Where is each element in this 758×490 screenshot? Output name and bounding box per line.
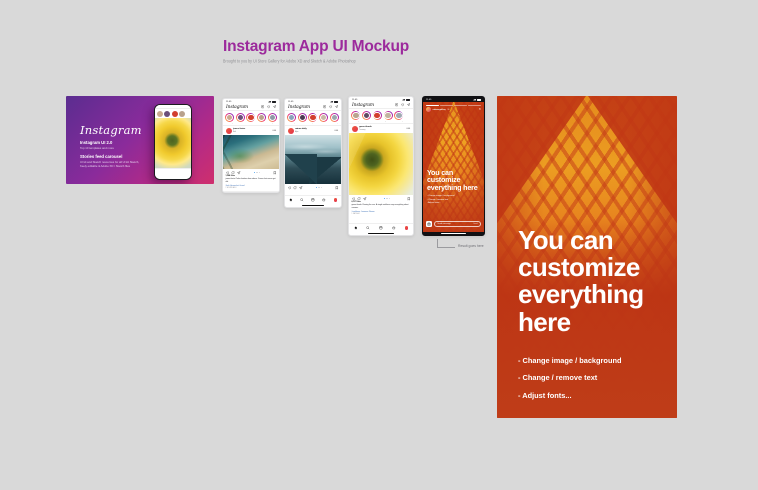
post-photo xyxy=(349,133,413,195)
post-header: james.foster Bali ••• xyxy=(223,126,279,135)
bottom-tab-bar[interactable] xyxy=(223,191,279,193)
share-icon[interactable] xyxy=(299,186,303,190)
plus-icon[interactable] xyxy=(323,105,326,108)
signal-icon xyxy=(473,99,476,101)
plus-icon[interactable] xyxy=(395,103,398,106)
status-time: 11:45 xyxy=(352,99,357,101)
more-options-icon[interactable]: ••• xyxy=(406,128,410,129)
reels-icon[interactable] xyxy=(311,198,315,202)
post-timestamp: 1 DAY AGO xyxy=(352,214,411,215)
home-indicator xyxy=(349,232,413,235)
bottom-tab-bar[interactable] xyxy=(285,195,341,204)
heart-icon[interactable] xyxy=(401,103,404,106)
story-reply-bar[interactable]: Send message Send xyxy=(426,221,481,227)
stories-strip[interactable]: Your story ellie.rose bloom.co gardens s… xyxy=(349,109,413,124)
story-item[interactable]: artbyleo xyxy=(268,113,277,124)
cover-line-1: Instagram UI 2.0 xyxy=(80,140,112,145)
status-time: 11:45 xyxy=(226,101,231,103)
battery-icon xyxy=(334,101,338,103)
post-location: Tuscany xyxy=(359,129,405,131)
post-header: nature.daily Alps ••• xyxy=(285,126,341,135)
story-avatar xyxy=(179,111,185,117)
instagram-wordmark: Instagram xyxy=(352,103,374,108)
story-progress-bar xyxy=(426,105,481,106)
story-item[interactable]: hikeclub xyxy=(319,113,328,124)
panel-content: You can customize everything here - Chan… xyxy=(518,227,663,404)
story-headline: You can customize everything here xyxy=(427,169,480,191)
post-actions xyxy=(285,184,341,190)
story-item[interactable]: bloom.co xyxy=(373,111,382,122)
shop-icon[interactable] xyxy=(322,198,326,202)
panel-bullet: - Change / remove text xyxy=(518,369,663,386)
post-header: green.thumb Tuscany ••• xyxy=(349,124,413,133)
post-photo xyxy=(285,135,341,184)
heart-icon[interactable] xyxy=(267,105,270,108)
stories-strip[interactable]: Your story nora.k explore hikeclub natur… xyxy=(285,111,341,126)
stories-strip[interactable]: Your story mia.lens travel.co foodieee a… xyxy=(223,111,279,126)
callout-label: Result goes here xyxy=(458,244,484,248)
battery-icon xyxy=(477,99,481,101)
heart-icon[interactable] xyxy=(288,186,292,190)
cover-line-3: Stories feed carousel xyxy=(80,154,122,159)
story-item[interactable]: foodieee xyxy=(257,113,266,124)
story-item[interactable]: Your story xyxy=(351,111,360,122)
panel-headline: You can customize everything here xyxy=(518,227,663,336)
battery-icon xyxy=(406,99,410,101)
avatar[interactable] xyxy=(426,107,431,112)
phone-mockup-feed-1[interactable]: 11:45 Instagram Your story mia.lens trav… xyxy=(222,98,280,193)
search-icon[interactable] xyxy=(300,198,304,202)
plus-icon[interactable] xyxy=(261,105,264,108)
story-reply-placeholder: Send message xyxy=(437,223,450,225)
panel-bullet-list: - Change image / background - Change / r… xyxy=(518,352,663,404)
story-bullet: - Adjust fonts... xyxy=(427,202,480,206)
share-icon[interactable] xyxy=(363,197,367,201)
callout-leader-line xyxy=(437,239,455,248)
avatar[interactable] xyxy=(352,126,358,132)
post-photo xyxy=(223,135,279,169)
home-indicator xyxy=(423,232,484,235)
signal-icon xyxy=(330,101,333,103)
panel-bullet: - Change image / background xyxy=(518,352,663,369)
story-item[interactable]: ellie.rose xyxy=(362,111,371,122)
story-avatar xyxy=(172,111,178,117)
story-item[interactable]: Your story xyxy=(287,113,296,124)
phone-mockup-story[interactable]: 11:45 uistoregallery 3h × You can custom… xyxy=(422,96,485,236)
cover-line-2: Top 10 templates and more xyxy=(80,146,114,150)
status-time: 11:45 xyxy=(288,101,293,103)
page-title: Instagram App UI Mockup xyxy=(223,38,409,55)
camera-icon[interactable] xyxy=(426,221,432,227)
instagram-wordmark: Instagram xyxy=(226,105,248,110)
big-preview-panel[interactable]: You can customize everything here - Chan… xyxy=(497,96,677,418)
bookmark-icon[interactable] xyxy=(407,197,411,201)
mockup-canvas: Instagram App UI Mockup Brought to you b… xyxy=(0,0,758,490)
comment-icon[interactable] xyxy=(293,186,297,190)
story-username[interactable]: uistoregallery xyxy=(433,109,446,111)
story-content: You can customize everything here - Chan… xyxy=(427,169,480,206)
phone-mockup-feed-2[interactable]: 11:45 Instagram Your story nora.k explor… xyxy=(284,98,342,208)
signal-icon xyxy=(268,101,271,103)
story-avatar xyxy=(157,111,163,117)
cover-logo: Instagram xyxy=(80,123,142,137)
instagram-nav-bar: Instagram xyxy=(223,104,279,111)
avatar[interactable] xyxy=(226,128,232,134)
story-background-photo xyxy=(423,102,484,232)
share-icon[interactable] xyxy=(237,171,241,175)
story-time: 3h xyxy=(447,109,449,111)
story-item[interactable]: nora.k xyxy=(298,113,307,124)
story-item[interactable]: Your story xyxy=(225,113,234,124)
post-caption: 6,117 likes green.thumb Chasing the sun.… xyxy=(349,201,413,217)
cover-line-4: UI kit and Sketch resources for all UI k… xyxy=(80,160,144,168)
page-heading: Instagram App UI Mockup Brought to you b… xyxy=(223,38,409,64)
cover-phone-footer xyxy=(155,168,190,179)
caption-hashtags[interactable]: #sunflower #summer #bloom xyxy=(352,211,411,214)
story-viewer[interactable]: uistoregallery 3h × You can customize ev… xyxy=(423,102,484,232)
status-indicators xyxy=(268,101,276,103)
reels-icon[interactable] xyxy=(379,226,383,230)
bookmark-icon[interactable] xyxy=(273,171,277,175)
bookmark-icon[interactable] xyxy=(335,186,339,190)
messenger-icon[interactable] xyxy=(407,103,410,106)
page-subtitle: Brought to you by UI Store Gallery for A… xyxy=(223,59,409,64)
search-icon[interactable] xyxy=(366,226,370,230)
story-bullet-list: - Change image / background - Change / r… xyxy=(427,195,480,206)
post-caption: 1,284 likes james.foster Palm shadows fr… xyxy=(223,175,279,191)
close-icon[interactable]: × xyxy=(479,108,481,110)
send-button[interactable]: Send xyxy=(473,223,477,225)
profile-avatar[interactable] xyxy=(334,198,338,202)
story-item[interactable]: nature.daily xyxy=(330,113,339,124)
profile-avatar[interactable] xyxy=(405,226,409,230)
messenger-icon[interactable] xyxy=(273,105,276,108)
home-indicator xyxy=(285,204,341,207)
avatar[interactable] xyxy=(288,128,294,134)
story-item[interactable]: travel.co xyxy=(246,113,255,124)
comment-icon[interactable] xyxy=(357,197,361,201)
cover-phone-photo xyxy=(155,118,190,167)
story-item[interactable]: explore xyxy=(308,113,317,124)
instagram-wordmark: Instagram xyxy=(288,105,310,110)
story-item[interactable]: mia.lens xyxy=(236,113,245,124)
story-reply-input[interactable]: Send message Send xyxy=(434,221,481,227)
more-options-icon[interactable]: ••• xyxy=(272,130,276,131)
instagram-nav-bar: Instagram xyxy=(349,102,413,109)
story-item[interactable]: summer.days xyxy=(394,111,403,122)
instagram-nav-bar: Instagram xyxy=(285,104,341,111)
phone-mockup-feed-3[interactable]: 11:45 Instagram Your story ellie.rose bl… xyxy=(348,96,414,236)
cover-phone-stories xyxy=(155,109,190,118)
heart-icon[interactable] xyxy=(352,197,356,201)
bottom-tab-bar[interactable] xyxy=(349,223,413,232)
panel-bullet: - Adjust fonts... xyxy=(518,387,663,404)
post-timestamp: 2 HOURS AGO xyxy=(226,188,277,189)
signal-icon xyxy=(402,99,405,101)
home-icon[interactable] xyxy=(289,198,293,202)
heart-icon[interactable] xyxy=(329,105,332,108)
shop-icon[interactable] xyxy=(392,226,396,230)
caption-text: james.foster Palm shadows from above. Dr… xyxy=(226,178,277,183)
more-options-icon[interactable]: ••• xyxy=(334,130,338,131)
messenger-icon[interactable] xyxy=(335,105,338,108)
caption-text: green.thumb Chasing the sun. A single su… xyxy=(352,204,411,209)
result-callout: Result goes here xyxy=(437,239,505,253)
story-avatar xyxy=(164,111,170,117)
home-icon[interactable] xyxy=(354,226,358,230)
cover-card[interactable]: Instagram Instagram UI 2.0 Top 10 templa… xyxy=(66,96,214,184)
post-location: Alps xyxy=(295,131,333,133)
post-location: Bali xyxy=(233,131,271,133)
battery-icon xyxy=(272,101,276,103)
story-header: uistoregallery 3h × xyxy=(426,107,481,112)
cover-phone-mockup xyxy=(154,104,192,180)
story-item[interactable]: gardens xyxy=(383,111,392,122)
status-time: 11:45 xyxy=(426,99,431,101)
